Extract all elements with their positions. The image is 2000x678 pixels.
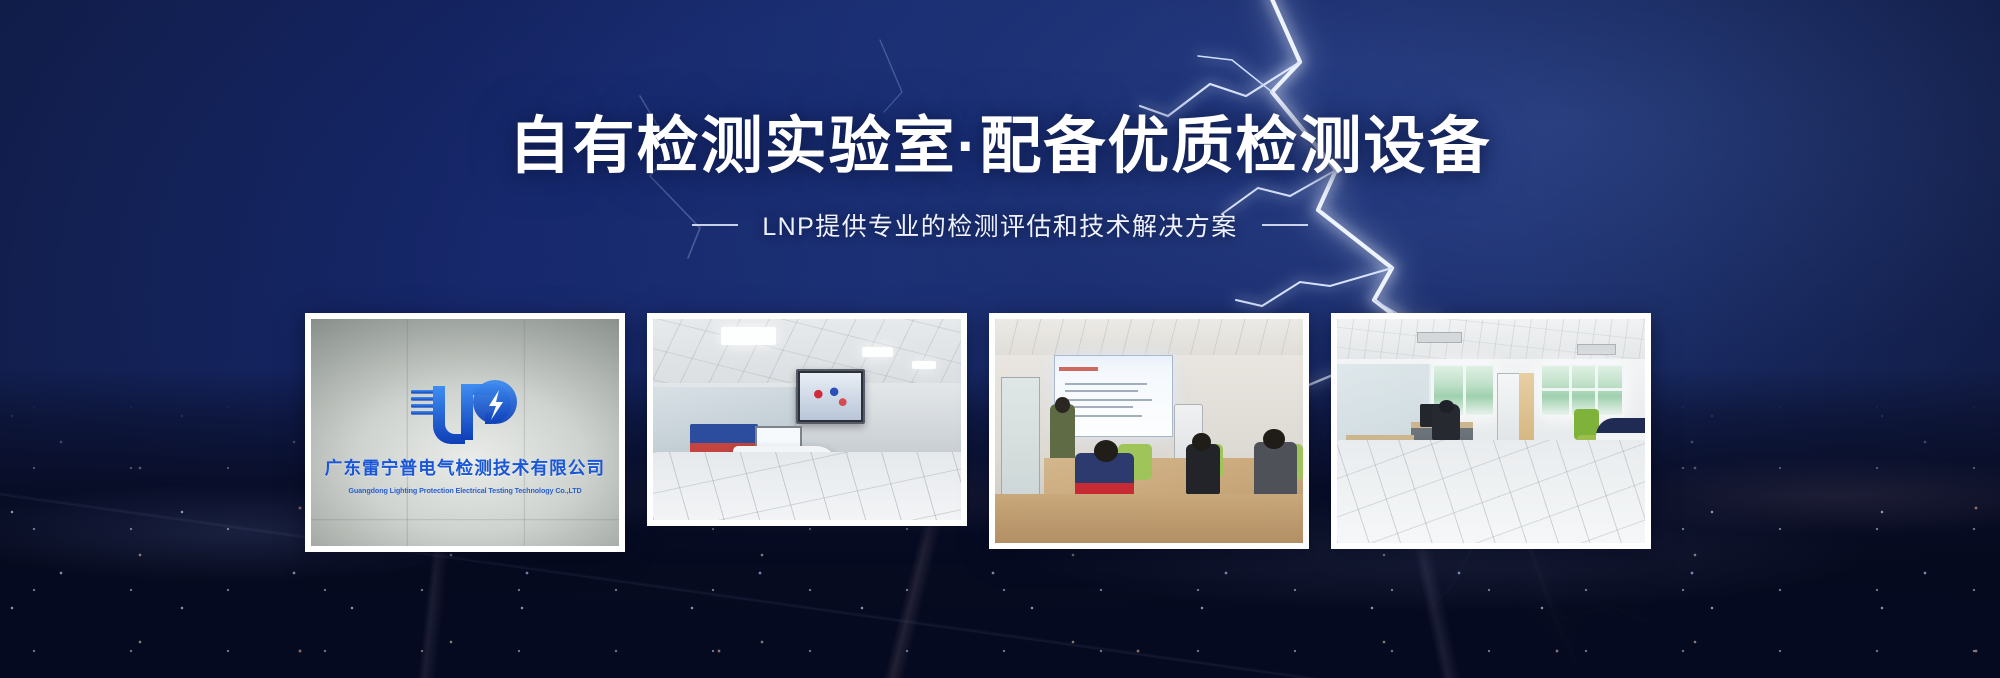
logo-wall-image: 广东雷宁普电气检测技术有限公司 Guangdong Lighting Prote… — [311, 319, 619, 546]
page-subtitle: LNP提供专业的检测评估和技术解决方案 — [762, 207, 1237, 243]
attendee-person — [1254, 442, 1297, 500]
slide-text-line — [1065, 390, 1138, 392]
ceiling-light-panel — [912, 361, 937, 369]
photo-frame — [995, 319, 1303, 543]
ceiling-light-panel — [862, 347, 893, 357]
gallery-photo-meeting-room[interactable] — [989, 313, 1309, 549]
hero-text-block: 自有检测实验室·配备优质检测设备 LNP提供专业的检测评估和技术解决方案 — [0, 112, 2000, 243]
photo-gallery: 广东雷宁普电气检测技术有限公司 Guangdong Lighting Prote… — [305, 313, 1648, 553]
office-image — [1337, 319, 1645, 543]
lnp-logo-icon — [403, 378, 527, 446]
company-name-cn: 广东雷宁普电气检测技术有限公司 — [325, 455, 606, 480]
meeting-wood-floor — [995, 494, 1303, 543]
slide-text-line — [1065, 399, 1152, 401]
gallery-photo-logo-wall[interactable]: 广东雷宁普电气检测技术有限公司 Guangdong Lighting Prote… — [305, 313, 625, 552]
window-mullion — [1542, 388, 1622, 391]
subtitle-row: LNP提供专业的检测评估和技术解决方案 — [0, 207, 2000, 243]
ceiling-vent — [1417, 332, 1462, 343]
laboratory-image — [653, 319, 961, 520]
gallery-photo-laboratory[interactable] — [647, 313, 967, 526]
lab-tiled-floor — [653, 452, 961, 520]
slide-text-line — [1065, 406, 1133, 408]
page-title: 自有检测实验室·配备优质检测设备 — [0, 112, 2000, 181]
photo-frame — [1337, 319, 1645, 543]
wooden-shelf — [1519, 373, 1534, 445]
photo-frame — [653, 319, 961, 520]
room-door — [1001, 377, 1040, 504]
attendee-person — [1186, 444, 1220, 493]
slide-text-line — [1065, 383, 1147, 385]
display-screen — [800, 373, 861, 419]
slide-text-line — [1065, 415, 1142, 417]
worker-head — [1439, 400, 1454, 413]
ceiling-vent — [1577, 344, 1616, 355]
attendee-head — [1192, 433, 1210, 451]
gallery-photo-office[interactable] — [1331, 313, 1651, 549]
rule-right-icon — [1262, 224, 1308, 226]
attendee-head — [1263, 429, 1285, 449]
company-name-en: Guangdong Lighting Protection Electrical… — [348, 486, 581, 495]
meeting-room-image — [995, 319, 1303, 543]
photo-frame: 广东雷宁普电气检测技术有限公司 Guangdong Lighting Prote… — [311, 319, 619, 546]
office-tiled-floor — [1337, 440, 1645, 543]
rule-left-icon — [692, 224, 738, 226]
slide-title-bar — [1059, 367, 1167, 371]
wall-mounted-display — [796, 369, 865, 423]
window-mullion — [1463, 366, 1466, 415]
ceiling-light-panel — [721, 327, 776, 345]
hero-banner: 自有检测实验室·配备优质检测设备 LNP提供专业的检测评估和技术解决方案 — [0, 0, 2000, 678]
